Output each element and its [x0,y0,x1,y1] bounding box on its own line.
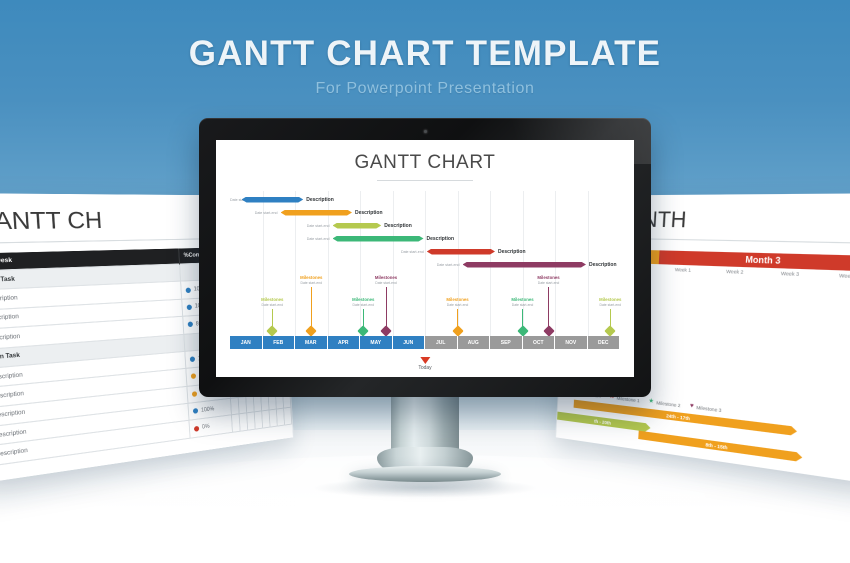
task-date-label: Date start-end [230,250,424,254]
task-date-label: Date start-end [230,263,460,267]
milestone-title: Milestones [285,275,337,280]
milestone-diamond-icon[interactable] [380,325,391,336]
milestone-stem [548,287,549,327]
cell-timeline[interactable] [284,408,292,425]
milestone-diamond-icon[interactable] [267,325,278,336]
task-bar[interactable] [463,262,587,268]
task-description-label: Description [498,249,526,255]
task-date-label: Date start-end [230,198,239,202]
status-dot-icon [194,425,199,431]
milestone-date: Date start-end [360,281,412,285]
month-cell-jul[interactable]: JUL [425,336,458,349]
gantt-milestone[interactable]: MilestonesDate start-end [360,275,412,335]
gantt-chart-title: GANTT CHART [216,152,634,174]
page-subtitle: For Powerpoint Presentation [0,80,850,98]
status-dot-icon [190,356,195,362]
page-title: GANTT CHART TEMPLATE [0,36,850,71]
percent-value: 0% [202,423,210,430]
month-cell-aug[interactable]: AUG [458,336,491,349]
gantt-milestone[interactable]: MilestonesDate start-end [432,297,484,335]
gantt-plot-area: Date start-endDescriptionDate start-endD… [230,191,620,371]
gantt-milestone[interactable]: MilestonesDate start-end [285,275,337,335]
milestone-date: Date start-end [584,303,634,307]
task-description-label: Description [306,197,334,203]
status-dot-icon [192,391,197,397]
milestone-stem [311,287,312,327]
month-cell-apr[interactable]: APR [328,336,361,349]
percent-value: 100% [201,406,215,414]
gantt-task-row[interactable]: Date start-endDescription [230,195,620,204]
milestone-date: Date start-end [432,303,484,307]
task-date-label: Date start-end [230,224,330,228]
gantt-month-axis: JANFEBMARAPRMAYJUNJULAUGSEPOCTNOVDEC [230,336,620,349]
month-cell-may[interactable]: MAY [360,336,393,349]
milestone-title: Milestones [523,275,575,280]
task-date-label: Date start-end [230,237,330,241]
month-cell-jan[interactable]: JAN [230,336,263,349]
gantt-task-row[interactable]: Date start-endDescription [230,247,620,256]
task-bar[interactable] [333,236,424,242]
task-description-label: Description [384,223,412,229]
milestone-title: Milestones [432,297,484,302]
today-marker: Today [418,357,431,371]
gantt-task-row[interactable]: Date start-endDescription [230,234,620,243]
month-cell-nov[interactable]: NOV [555,336,588,349]
month-cell-feb[interactable]: FEB [263,336,296,349]
month-cell-oct[interactable]: OCT [523,336,556,349]
gantt-task-row[interactable]: Date start-endDescription [230,208,620,217]
month-cell-mar[interactable]: MAR [295,336,328,349]
star-icon: ★ [648,398,654,405]
task-bar[interactable] [281,210,353,216]
milestone-stem [272,309,273,327]
month-cell-jun[interactable]: JUN [393,336,426,349]
monitor-stand [391,395,459,473]
task-bar[interactable] [242,197,304,203]
milestone-date: Date start-end [523,281,575,285]
today-label: Today [418,365,431,371]
task-bar[interactable] [333,223,382,229]
task-description-label: Description [355,210,383,216]
monitor: GANTT CHART Date start-endDescriptionDat… [199,118,651,397]
status-dot-icon [186,287,191,293]
task-bar[interactable] [427,249,495,255]
gantt-milestone[interactable]: MilestonesDate start-end [584,297,634,335]
gantt-title-rule [377,180,473,181]
milestone-stem [610,309,611,327]
gantt-task-row[interactable]: Date start-endDescription [230,221,620,230]
poster-stage: GANTT CHART TEMPLATE For Powerpoint Pres… [0,0,850,563]
status-dot-icon [193,408,198,414]
monitor-screen[interactable]: GANTT CHART Date start-endDescriptionDat… [216,140,634,377]
milestone-diamond-icon[interactable] [605,325,616,336]
poster-headline: GANTT CHART TEMPLATE For Powerpoint Pres… [0,36,850,98]
gantt-milestone[interactable]: MilestonesDate start-end [523,275,575,335]
milestone-title: Milestones [360,275,412,280]
milestone-diamond-icon[interactable] [306,325,317,336]
monitor-base [349,466,501,482]
task-description-label: Description [589,262,617,268]
webcam-icon [424,130,427,133]
heart-icon: ♥ [690,403,694,410]
milestone-date: Date start-end [285,281,337,285]
task-date-label: Date start-end [230,211,278,215]
status-dot-icon [188,322,193,328]
milestone-title: Milestones [584,297,634,302]
monitor-bezel: GANTT CHART Date start-endDescriptionDat… [199,118,651,397]
milestone-stem [386,287,387,327]
status-dot-icon [187,304,192,310]
today-triangle-icon [420,357,430,364]
month-cell-sep[interactable]: SEP [490,336,523,349]
task-description-label: Description [427,236,455,242]
status-dot-icon [191,374,196,380]
gantt-task-row[interactable]: Date start-endDescription [230,260,620,269]
milestone-diamond-icon[interactable] [543,325,554,336]
milestone-diamond-icon[interactable] [452,325,463,336]
month-cell-dec[interactable]: DEC [588,336,621,349]
